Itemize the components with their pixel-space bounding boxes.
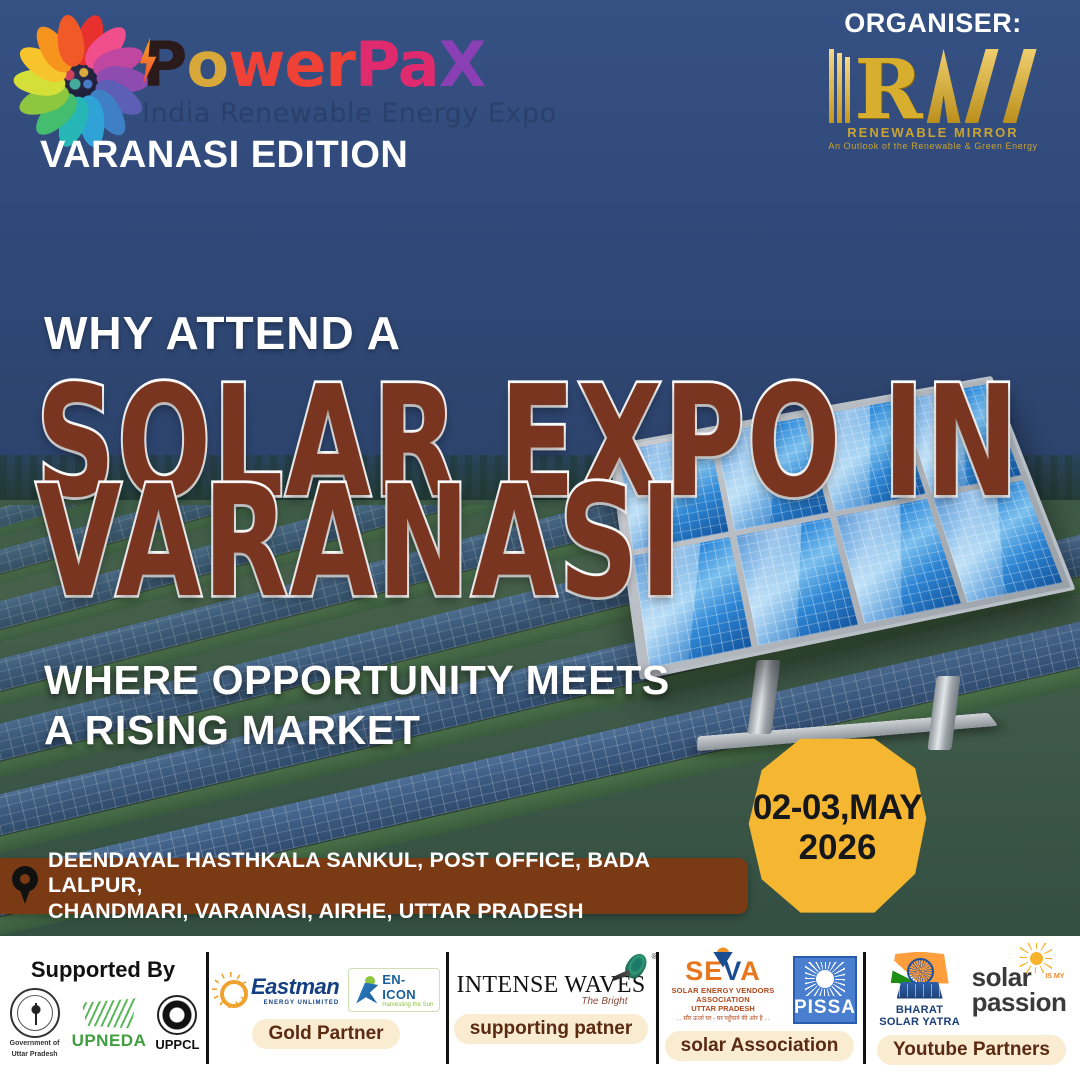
- brand-letter-x: X: [439, 34, 486, 96]
- renewable-mirror-logo: R RENEWABLE MIRROR An Outlook of the Ren…: [818, 45, 1048, 155]
- date-line1: 02-03,MAY: [753, 788, 922, 828]
- seva-logo[interactable]: SEVA SOLAR ENERGY VENDORS ASSOCIATION UT…: [662, 958, 784, 1022]
- youtube-partners-logos: BHARAT SOLAR YATRA solar IS MY passion: [877, 952, 1067, 1028]
- hero-kicker: WHY ATTEND A: [44, 306, 401, 360]
- enicon-logo[interactable]: EN-ICON Harvesting the Sun: [348, 968, 440, 1012]
- venue-line2: CHANDMARI, VARANASI, AIRHE, UTTAR PRADES…: [48, 899, 748, 924]
- solar-association-pill: solar Association: [665, 1031, 855, 1061]
- youtube-partners-pill: Youtube Partners: [877, 1035, 1066, 1065]
- seva-wordmark: SEVA: [662, 958, 784, 985]
- array-support-leg: [747, 660, 780, 734]
- monogram-bars-icon: [829, 49, 850, 123]
- upneda-logo[interactable]: UPNEDA: [72, 997, 147, 1051]
- enicon-label: EN-ICON: [382, 972, 434, 1002]
- sunburst-icon: [805, 962, 845, 996]
- up-government-logo[interactable]: Government of Uttar Pradesh: [7, 988, 63, 1058]
- location-pin-icon: [10, 866, 40, 906]
- monogram-letter-r: R: [854, 59, 922, 123]
- enicon-sublabel: Harvesting the Sun: [382, 1002, 434, 1008]
- brand-letters-pa: Pa: [355, 34, 439, 96]
- bsy-label-line1: BHARAT: [877, 1004, 963, 1016]
- uppcl-label: UPPCL: [155, 1037, 199, 1052]
- poster-canvas: P o wer Pa X India Renewable Energy Expo…: [0, 0, 1080, 1080]
- seva-sublabel3: ․․ सौर ऊर्जा घर - घर पहुँचाने की ओर है ․…: [662, 1014, 784, 1022]
- venue-address-bar: DEENDAYAL HASTHKALA SANKUL, POST OFFICE,…: [0, 858, 748, 914]
- bharat-solar-yatra-icon: [887, 952, 953, 1004]
- eastman-sublabel: ENERGY UNLIMITED: [251, 1000, 339, 1006]
- gov-caption-line2: Uttar Pradesh: [7, 1051, 63, 1059]
- brand-subtitle: India Renewable Energy Expo: [142, 98, 557, 129]
- seva-sun-hands-icon: [710, 945, 736, 969]
- pissa-logo[interactable]: PISSA: [793, 956, 857, 1024]
- sun-icon: [212, 972, 248, 1008]
- organiser-block: ORGANISER: R RENEWABLE MIRROR An Outlook…: [818, 8, 1048, 155]
- pissa-label: PISSA: [794, 998, 856, 1017]
- powerpax-wordmark: P o wer Pa X India Renewable Energy Expo: [142, 34, 557, 129]
- ashoka-chakra-icon: [907, 958, 934, 985]
- footer-section-supported-by: Supported By Government of Uttar Pradesh…: [0, 936, 206, 1080]
- supporting-partner-pill: supporting patner: [454, 1014, 649, 1044]
- hero-subhead-line2: A RISING MARKET: [44, 705, 670, 755]
- solar-passion-mini: IS MY: [1045, 973, 1064, 980]
- eastman-label: Eastman: [251, 974, 339, 999]
- monogram-chevron-icon: [927, 49, 961, 123]
- solar-panel-icon: [897, 982, 943, 999]
- bharat-solar-yatra-logo[interactable]: BHARAT SOLAR YATRA: [877, 952, 963, 1028]
- uppcl-logo[interactable]: UPPCL: [155, 995, 199, 1052]
- array-support-leg: [927, 676, 960, 750]
- seva-sublabel1: SOLAR ENERGY VENDORS ASSOCIATION: [662, 986, 784, 1004]
- rm-monogram: R: [818, 45, 1048, 123]
- seva-sublabel2: UTTAR PRADESH: [662, 1004, 784, 1013]
- uppcl-seal-icon: [157, 995, 197, 1035]
- hero-subhead: WHERE OPPORTUNITY MEETS A RISING MARKET: [44, 655, 670, 755]
- footer-section-solar-association: SEVA SOLAR ENERGY VENDORS ASSOCIATION UT…: [656, 936, 863, 1080]
- sponsor-footer: Supported By Government of Uttar Pradesh…: [0, 936, 1080, 1080]
- government-emblem-icon: [10, 988, 60, 1038]
- hero-headline-line2: VARANASI: [36, 470, 683, 617]
- footer-section-supporting-partner: ® INTENSE WAVES The Bright supporting pa…: [446, 936, 656, 1080]
- eastman-logo[interactable]: Eastman ENERGY UNLIMITED: [212, 972, 339, 1008]
- gov-caption-line1: Government of: [7, 1040, 63, 1048]
- upneda-label: UPNEDA: [72, 1031, 147, 1051]
- powerpax-brand: P o wer Pa X India Renewable Energy Expo: [22, 22, 557, 140]
- solar-passion-line2: passion: [972, 990, 1067, 1015]
- venue-line1: DEENDAYAL HASTHKALA SANKUL, POST OFFICE,…: [48, 848, 748, 899]
- hero-subhead-line1: WHERE OPPORTUNITY MEETS: [44, 655, 670, 705]
- gold-partner-pill: Gold Partner: [252, 1019, 399, 1049]
- sun-icon: [1020, 943, 1052, 973]
- organiser-tagline: An Outlook of the Renewable & Green Ener…: [818, 141, 1048, 151]
- venue-address-text: DEENDAYAL HASTHKALA SANKUL, POST OFFICE,…: [48, 848, 748, 924]
- organiser-label: ORGANISER:: [818, 8, 1048, 39]
- edition-label: VARANASI EDITION: [40, 134, 408, 177]
- rainbow-pinwheel-logo-icon: [22, 22, 140, 140]
- footer-section-gold-partner: Eastman ENERGY UNLIMITED EN-ICON Harvest…: [206, 936, 446, 1080]
- upneda-mark-icon: [78, 997, 140, 1031]
- intense-waves-logo[interactable]: ® INTENSE WAVES The Bright: [456, 972, 645, 1007]
- supported-by-logos: Government of Uttar Pradesh UPNEDA UPPCL: [7, 988, 200, 1058]
- footer-section-youtube-partners: BHARAT SOLAR YATRA solar IS MY passion Y…: [863, 936, 1080, 1080]
- bsy-label-line2: SOLAR YATRA: [877, 1016, 963, 1028]
- brand-letter-o: o: [186, 34, 228, 96]
- solar-passion-logo[interactable]: solar IS MY passion: [972, 965, 1067, 1014]
- poster-header: P o wer Pa X India Renewable Energy Expo…: [0, 0, 1080, 190]
- monogram-chevron-icon: [965, 49, 999, 123]
- enicon-leaf-icon: [354, 975, 380, 1005]
- monogram-chevron-icon: [1003, 49, 1037, 123]
- solar-association-logos: SEVA SOLAR ENERGY VENDORS ASSOCIATION UT…: [662, 956, 857, 1024]
- gold-partner-logos: Eastman ENERGY UNLIMITED EN-ICON Harvest…: [212, 968, 440, 1012]
- organiser-name: RENEWABLE MIRROR: [818, 125, 1048, 140]
- brand-letters-wer: wer: [228, 34, 355, 96]
- supported-by-title: Supported By: [31, 957, 175, 983]
- solar-panel-cell: [735, 517, 857, 645]
- date-line2: 2026: [799, 828, 877, 868]
